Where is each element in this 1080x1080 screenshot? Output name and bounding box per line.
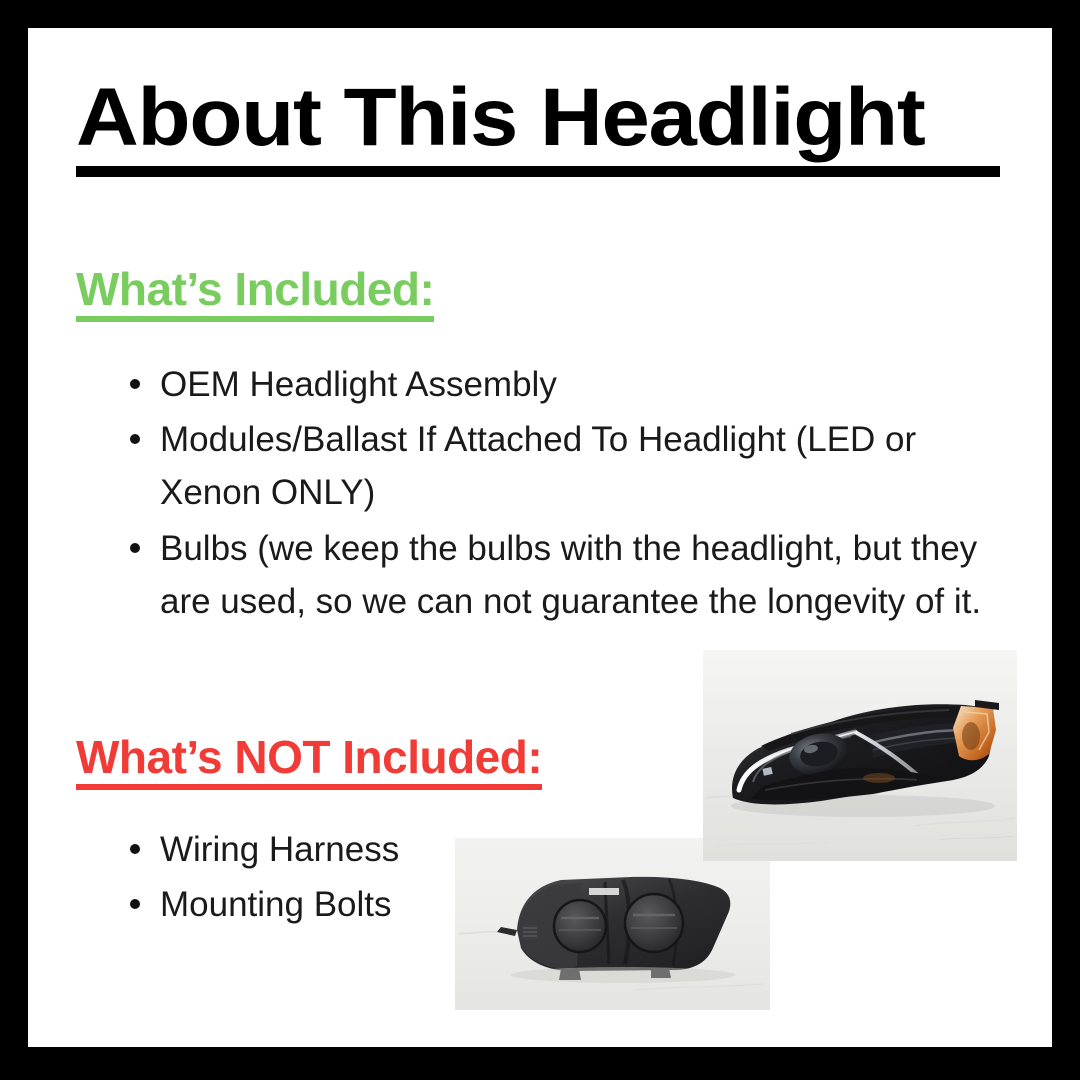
headlight-rear-photo [455,838,770,1010]
section-heading-not-included: What’s NOT Included: [76,733,542,790]
section-heading-not-included-label: What’s NOT Included: [76,731,542,783]
list-item: Bulbs (we keep the bulbs with the headli… [116,522,996,628]
included-list: OEM Headlight Assembly Modules/Ballast I… [116,358,996,630]
poster-canvas: About This Headlight What’s Included: OE… [28,28,1052,1047]
page-title: About This Headlight [76,76,1052,160]
section-heading-not-included-underline [76,784,542,790]
section-heading-included: What’s Included: [76,265,434,322]
list-item: Modules/Ballast If Attached To Headlight… [116,413,996,519]
poster-frame: About This Headlight What’s Included: OE… [0,0,1080,1080]
page-title-underline [76,166,1000,177]
section-heading-included-underline [76,316,434,322]
list-item: OEM Headlight Assembly [116,358,996,411]
section-heading-included-label: What’s Included: [76,263,434,315]
headlight-front-photo [703,650,1017,861]
page-title-block: About This Headlight [76,76,1006,177]
